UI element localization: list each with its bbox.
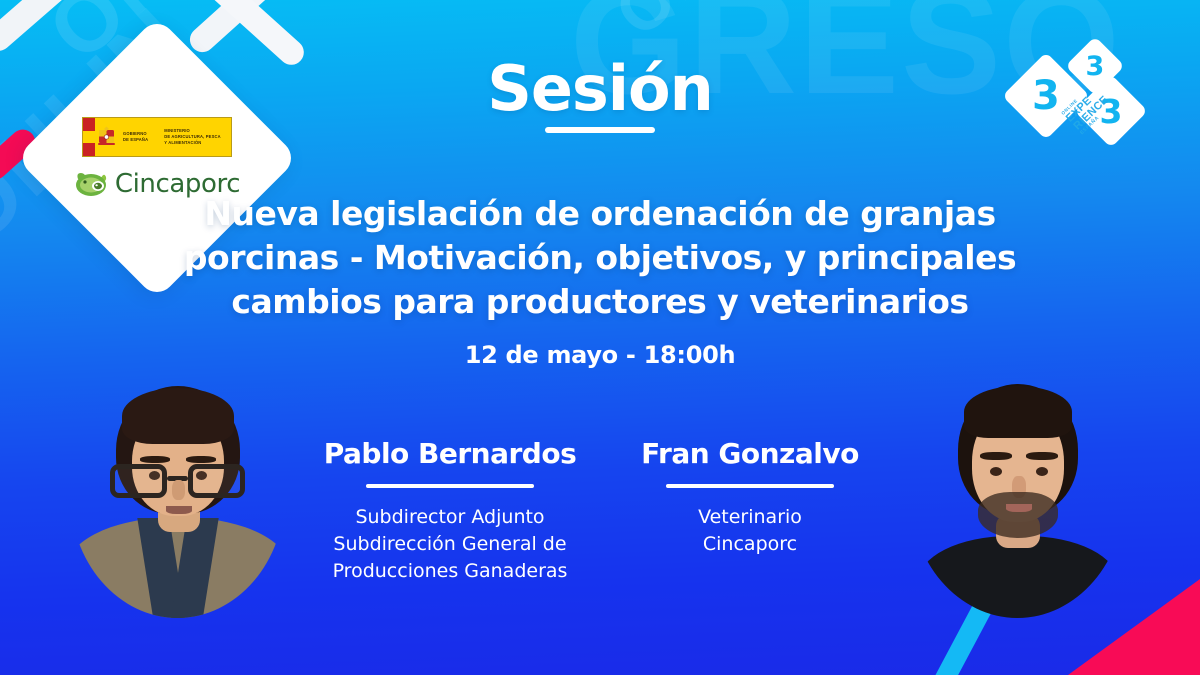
- pig-icon: [74, 170, 108, 198]
- speaker-card: Pablo Bernardos Subdirector Adjunto Subd…: [300, 437, 600, 585]
- speaker-name: Fran Gonzalvo: [600, 437, 900, 470]
- kicker-underline: [545, 127, 655, 133]
- government-name: GOBIERNO DE ESPAÑA: [123, 131, 148, 143]
- speaker-photo-pablo-bernardos: [70, 368, 285, 618]
- speaker-list: Pablo Bernardos Subdirector Adjunto Subd…: [300, 437, 900, 585]
- speaker-underline: [666, 484, 834, 488]
- page-title: Nueva legislación de ordenación de granj…: [160, 192, 1040, 324]
- decor-bar-white-1: [0, 0, 88, 56]
- page-kicker: Sesión: [0, 52, 1200, 125]
- speaker-role: Subdirector Adjunto Subdirección General…: [300, 504, 600, 585]
- speaker-role: Veterinario Cincaporc: [600, 504, 900, 558]
- watermark-online-mid: ONLINE: [600, 0, 852, 52]
- speaker-underline: [366, 484, 534, 488]
- speaker-card: Fran Gonzalvo Veterinario Cincaporc: [600, 437, 900, 585]
- session-datetime: 12 de mayo - 18:00h: [0, 341, 1200, 369]
- speaker-photo-fran-gonzalvo: [910, 368, 1125, 618]
- webinar-banner: GRESO ON ONLIN ONLINE GOBIERNO DE: [0, 0, 1200, 675]
- ministry-name: MINISTERIO DE AGRICULTURA, PESCA Y ALIME…: [164, 128, 221, 146]
- speaker-name: Pablo Bernardos: [300, 437, 600, 470]
